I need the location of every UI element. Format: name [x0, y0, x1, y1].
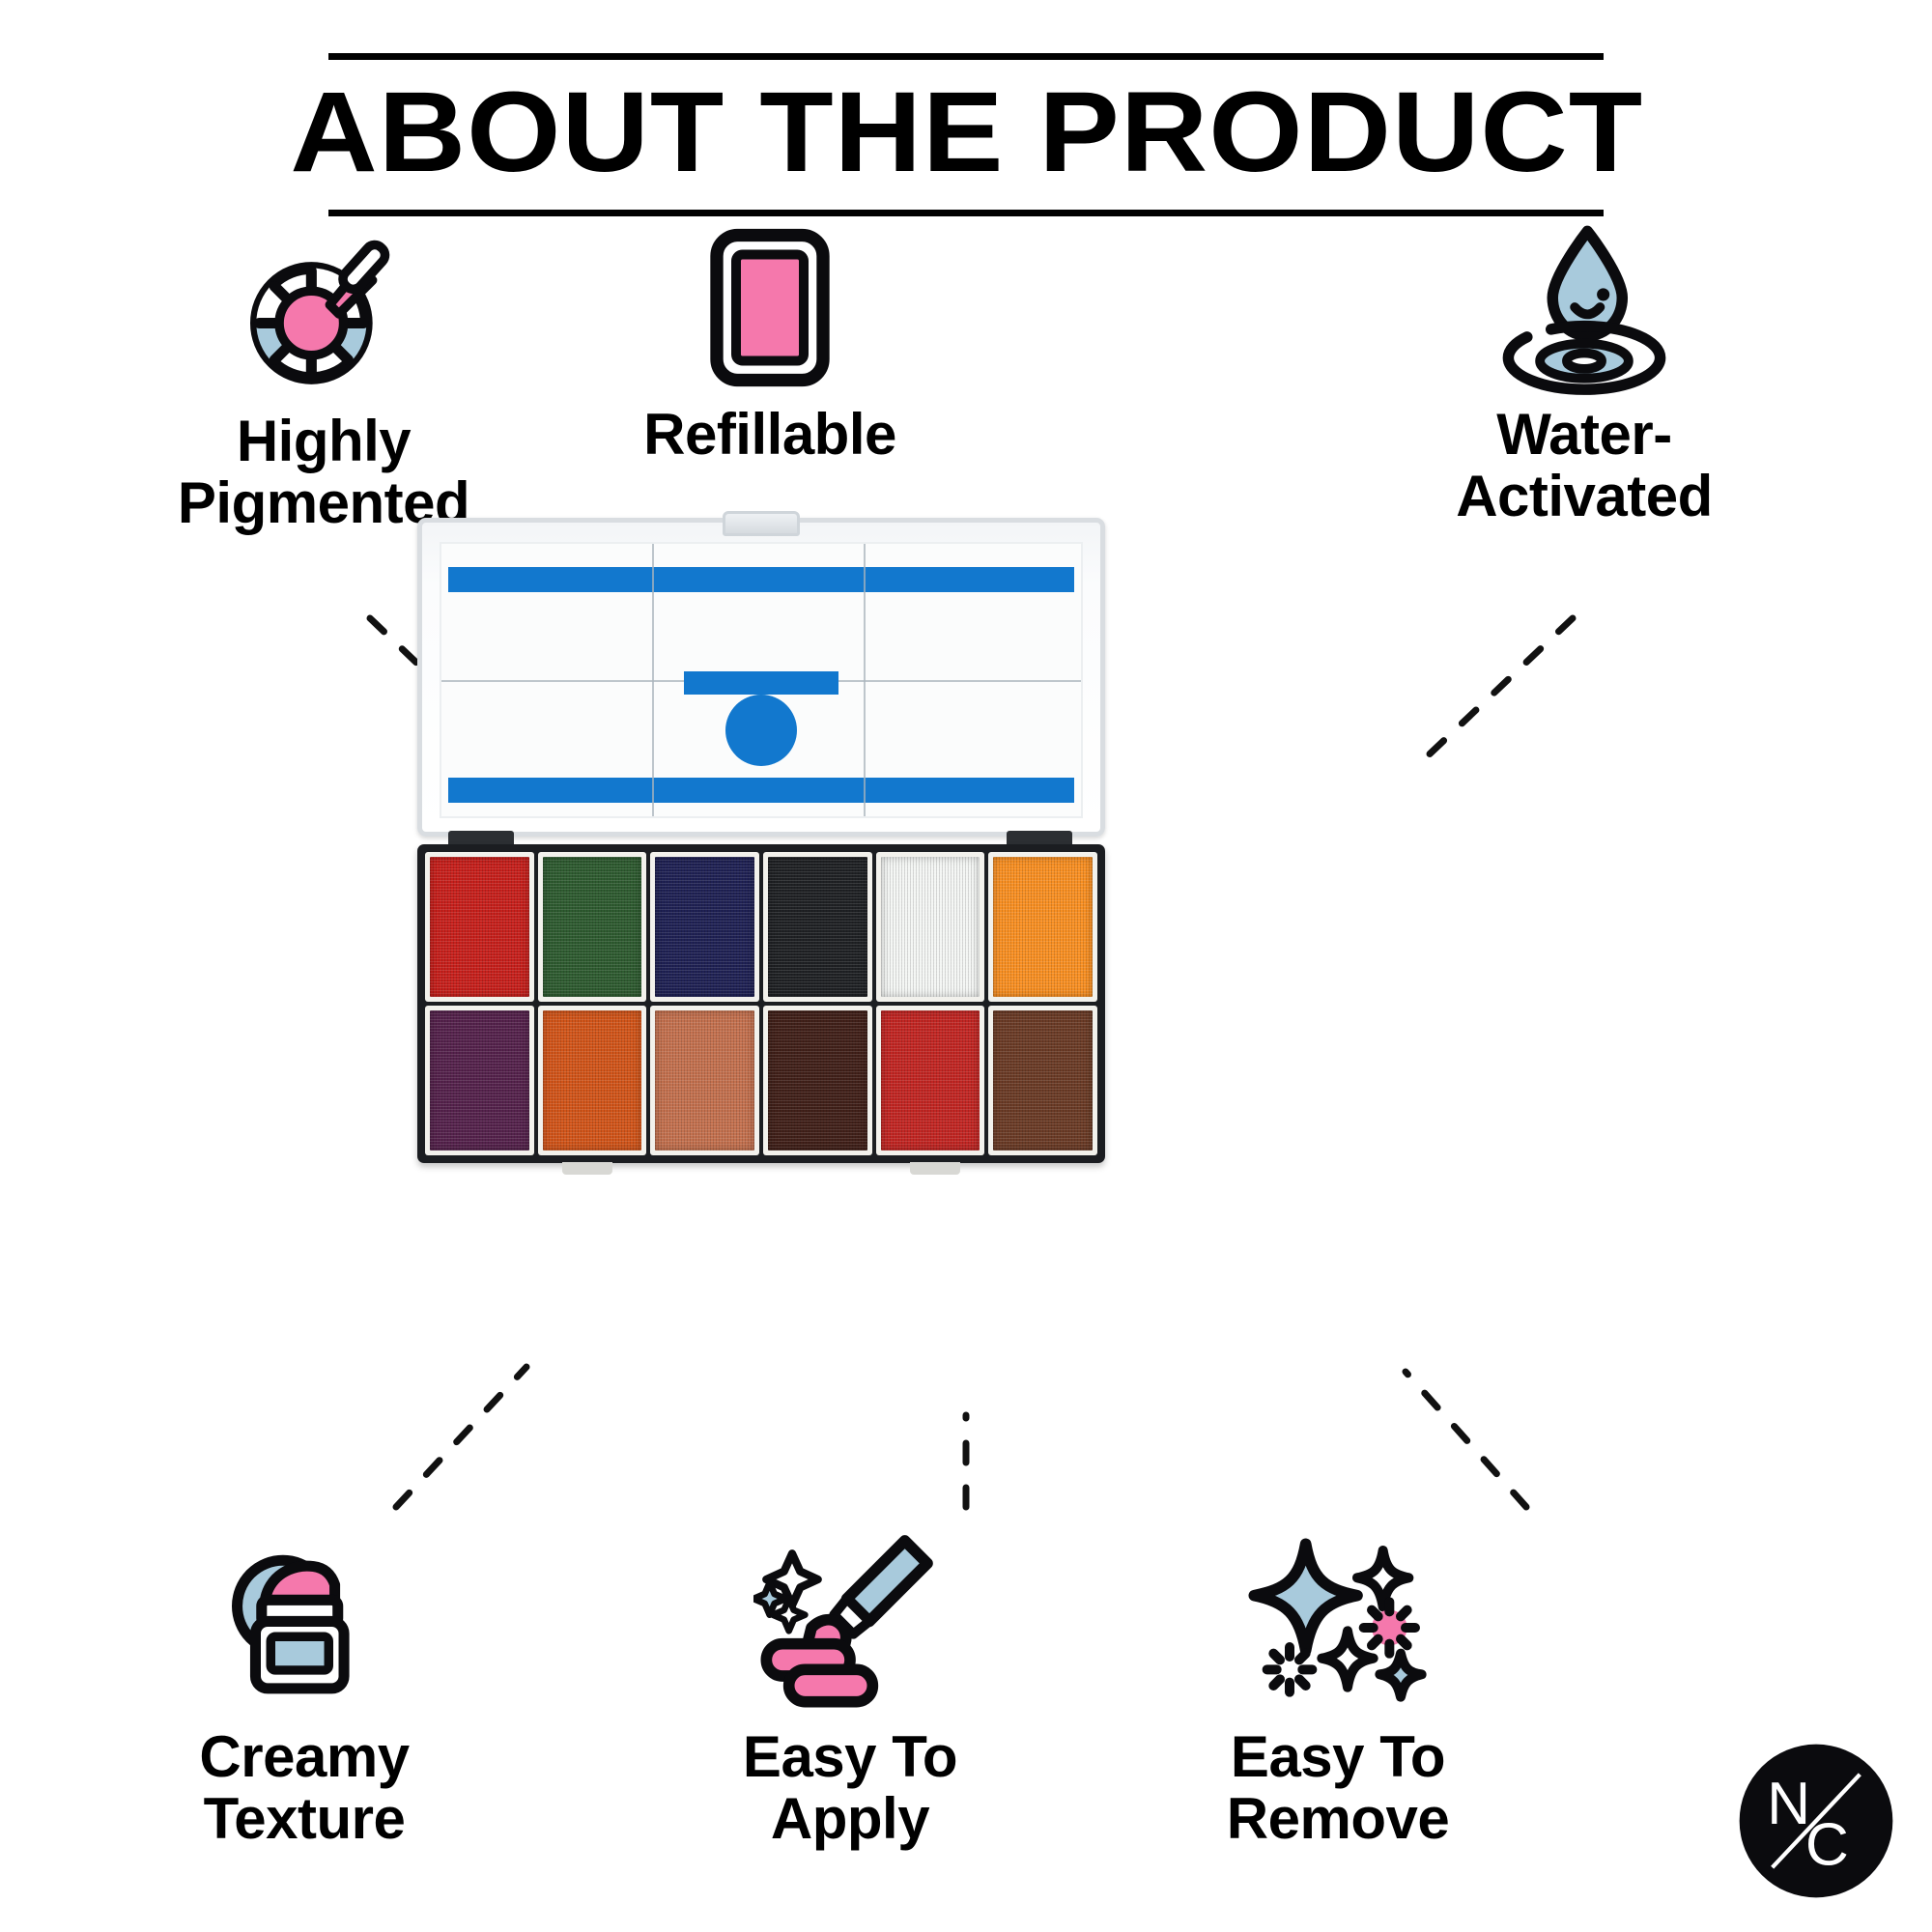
icon-container: [638, 1519, 1063, 1726]
icon-container: [1125, 1519, 1550, 1726]
paint-swatch: [543, 1010, 642, 1151]
page-title-block: ABOUT THE PRODUCT: [328, 53, 1604, 216]
paint-swatch: [543, 857, 642, 997]
base-clip-right: [910, 1162, 960, 1175]
feature-water-activated: Water- Activated: [1372, 211, 1797, 527]
feature-label: Water- Activated: [1372, 404, 1797, 527]
paint-pan-white[interactable]: [876, 852, 985, 1002]
paint-swatch: [430, 1010, 529, 1151]
feature-label: Easy To Apply: [638, 1726, 1063, 1850]
icon-container: [557, 211, 982, 404]
paint-pan-navy-blue[interactable]: [650, 852, 759, 1002]
water-drop-ripple-icon: [1488, 215, 1681, 399]
paint-swatch: [655, 857, 754, 997]
paint-swatch: [881, 857, 980, 997]
paint-pan-red[interactable]: [425, 852, 534, 1002]
paint-swatch: [993, 857, 1093, 997]
lid-inner-panel: [440, 542, 1083, 818]
paint-brush-icon: [753, 1531, 947, 1715]
logo-letter-c: C: [1805, 1811, 1849, 1878]
paint-pan-crimson-red[interactable]: [876, 1006, 985, 1155]
paint-pan-black[interactable]: [763, 852, 872, 1002]
paint-pan-grid: [425, 852, 1097, 1155]
feature-easy-to-apply: Easy To Apply: [638, 1519, 1063, 1850]
lid-stripe-top: [448, 567, 1074, 592]
cream-jar-icon: [213, 1536, 396, 1710]
paint-pan-dark-green[interactable]: [538, 852, 647, 1002]
lid-stripe-bottom: [448, 778, 1074, 803]
lid-brand-bar: [684, 671, 838, 695]
icon-container: [111, 217, 536, 411]
refill-pan-icon: [697, 218, 842, 397]
title-rule-top: [328, 53, 1604, 60]
paint-pan-burnt-orange[interactable]: [538, 1006, 647, 1155]
sparkles-icon: [1241, 1531, 1435, 1715]
paint-pan-terracotta[interactable]: [650, 1006, 759, 1155]
page-title: ABOUT THE PRODUCT: [290, 66, 1641, 204]
icon-container: [92, 1519, 517, 1726]
nc-monogram-logo: N C: [1734, 1739, 1898, 1903]
base-clip-left: [562, 1162, 612, 1175]
paint-swatch: [430, 857, 529, 997]
paint-swatch: [768, 1010, 867, 1151]
palette-base-tray: [417, 844, 1105, 1163]
product-image-face-paint-palette: [408, 510, 1113, 1177]
paint-swatch: [881, 1010, 980, 1151]
pink-burst: [1364, 1602, 1415, 1653]
feature-highly-pigmented: Highly Pigmented: [111, 217, 536, 534]
feature-label: Easy To Remove: [1125, 1726, 1550, 1850]
logo-letter-n: N: [1767, 1771, 1810, 1837]
paint-pan-chocolate[interactable]: [988, 1006, 1097, 1155]
paint-pan-orange[interactable]: [988, 852, 1097, 1002]
feature-label: Creamy Texture: [92, 1726, 517, 1850]
icon-container: [1372, 211, 1797, 404]
lid-brand-dot: [725, 695, 797, 766]
feature-creamy-texture: Creamy Texture: [92, 1519, 517, 1850]
paint-swatch: [993, 1010, 1093, 1151]
paint-pan-plum[interactable]: [425, 1006, 534, 1155]
feature-easy-to-remove: Easy To Remove: [1125, 1519, 1550, 1850]
palette-lid: [417, 518, 1105, 837]
paint-pan-dark-brown[interactable]: [763, 1006, 872, 1155]
paint-swatch: [768, 857, 867, 997]
feature-label: Refillable: [557, 404, 982, 466]
small-burst: [1267, 1647, 1313, 1692]
color-wheel-brush-icon: [232, 222, 415, 406]
lid-clasp[interactable]: [723, 511, 800, 536]
paint-swatch: [655, 1010, 754, 1151]
feature-refillable: Refillable: [557, 211, 982, 466]
